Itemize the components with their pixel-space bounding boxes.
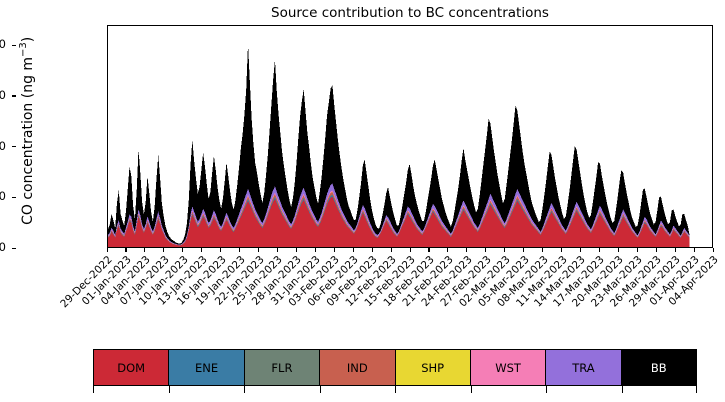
y-tick-mark [12, 248, 16, 249]
legend-item-label: DOM [117, 361, 145, 375]
legend-tick [546, 386, 547, 393]
legend-item-shp[interactable]: SHP [395, 350, 470, 385]
legend-item-ene[interactable]: ENE [168, 350, 243, 385]
legend-tick [169, 386, 170, 393]
legend-item-flr[interactable]: FLR [244, 350, 319, 385]
y-tick-mark [12, 146, 16, 147]
y-tick-mark [12, 197, 16, 198]
y-tick-mark [12, 45, 16, 46]
y-axis-label: CO concentration (ng m−3) [18, 6, 36, 256]
legend-item-bb[interactable]: BB [621, 350, 696, 385]
legend-item-label: IND [347, 361, 368, 375]
legend-item-dom[interactable]: DOM [94, 350, 168, 385]
legend-item-label: FLR [271, 361, 292, 375]
legend-tick [622, 386, 623, 393]
legend-item-tra[interactable]: TRA [545, 350, 620, 385]
legend-tick [395, 386, 396, 393]
legend-item-label: SHP [421, 361, 444, 375]
y-tick-label: 0 [0, 240, 6, 254]
legend-item-label: TRA [572, 361, 594, 375]
legend-tick [244, 386, 245, 393]
legend-item-ind[interactable]: IND [319, 350, 394, 385]
legend-item-label: ENE [195, 361, 218, 375]
legend-item-wst[interactable]: WST [470, 350, 545, 385]
y-axis-label-text: CO concentration (ng m [20, 57, 36, 225]
y-tick-label: 15000 [0, 88, 6, 102]
y-tick-label: 5000 [0, 189, 6, 203]
legend-tick-marks [93, 386, 697, 400]
legend-colorbar: DOMENEFLRINDSHPWSTTRABB [93, 349, 697, 386]
y-tick-label: 10000 [0, 139, 6, 153]
legend-tick [696, 386, 697, 393]
chart-title: Source contribution to BC concentrations [107, 5, 713, 21]
legend-tick [93, 386, 94, 393]
y-tick-label: 20000 [0, 37, 6, 51]
y-axis-label-suffix: ) [20, 37, 36, 42]
legend-tick [471, 386, 472, 393]
legend-item-label: BB [651, 361, 667, 375]
legend-item-label: WST [495, 361, 521, 375]
y-axis-label-exponent: −3 [18, 42, 29, 57]
y-tick-mark [12, 95, 16, 96]
legend-tick [320, 386, 321, 393]
